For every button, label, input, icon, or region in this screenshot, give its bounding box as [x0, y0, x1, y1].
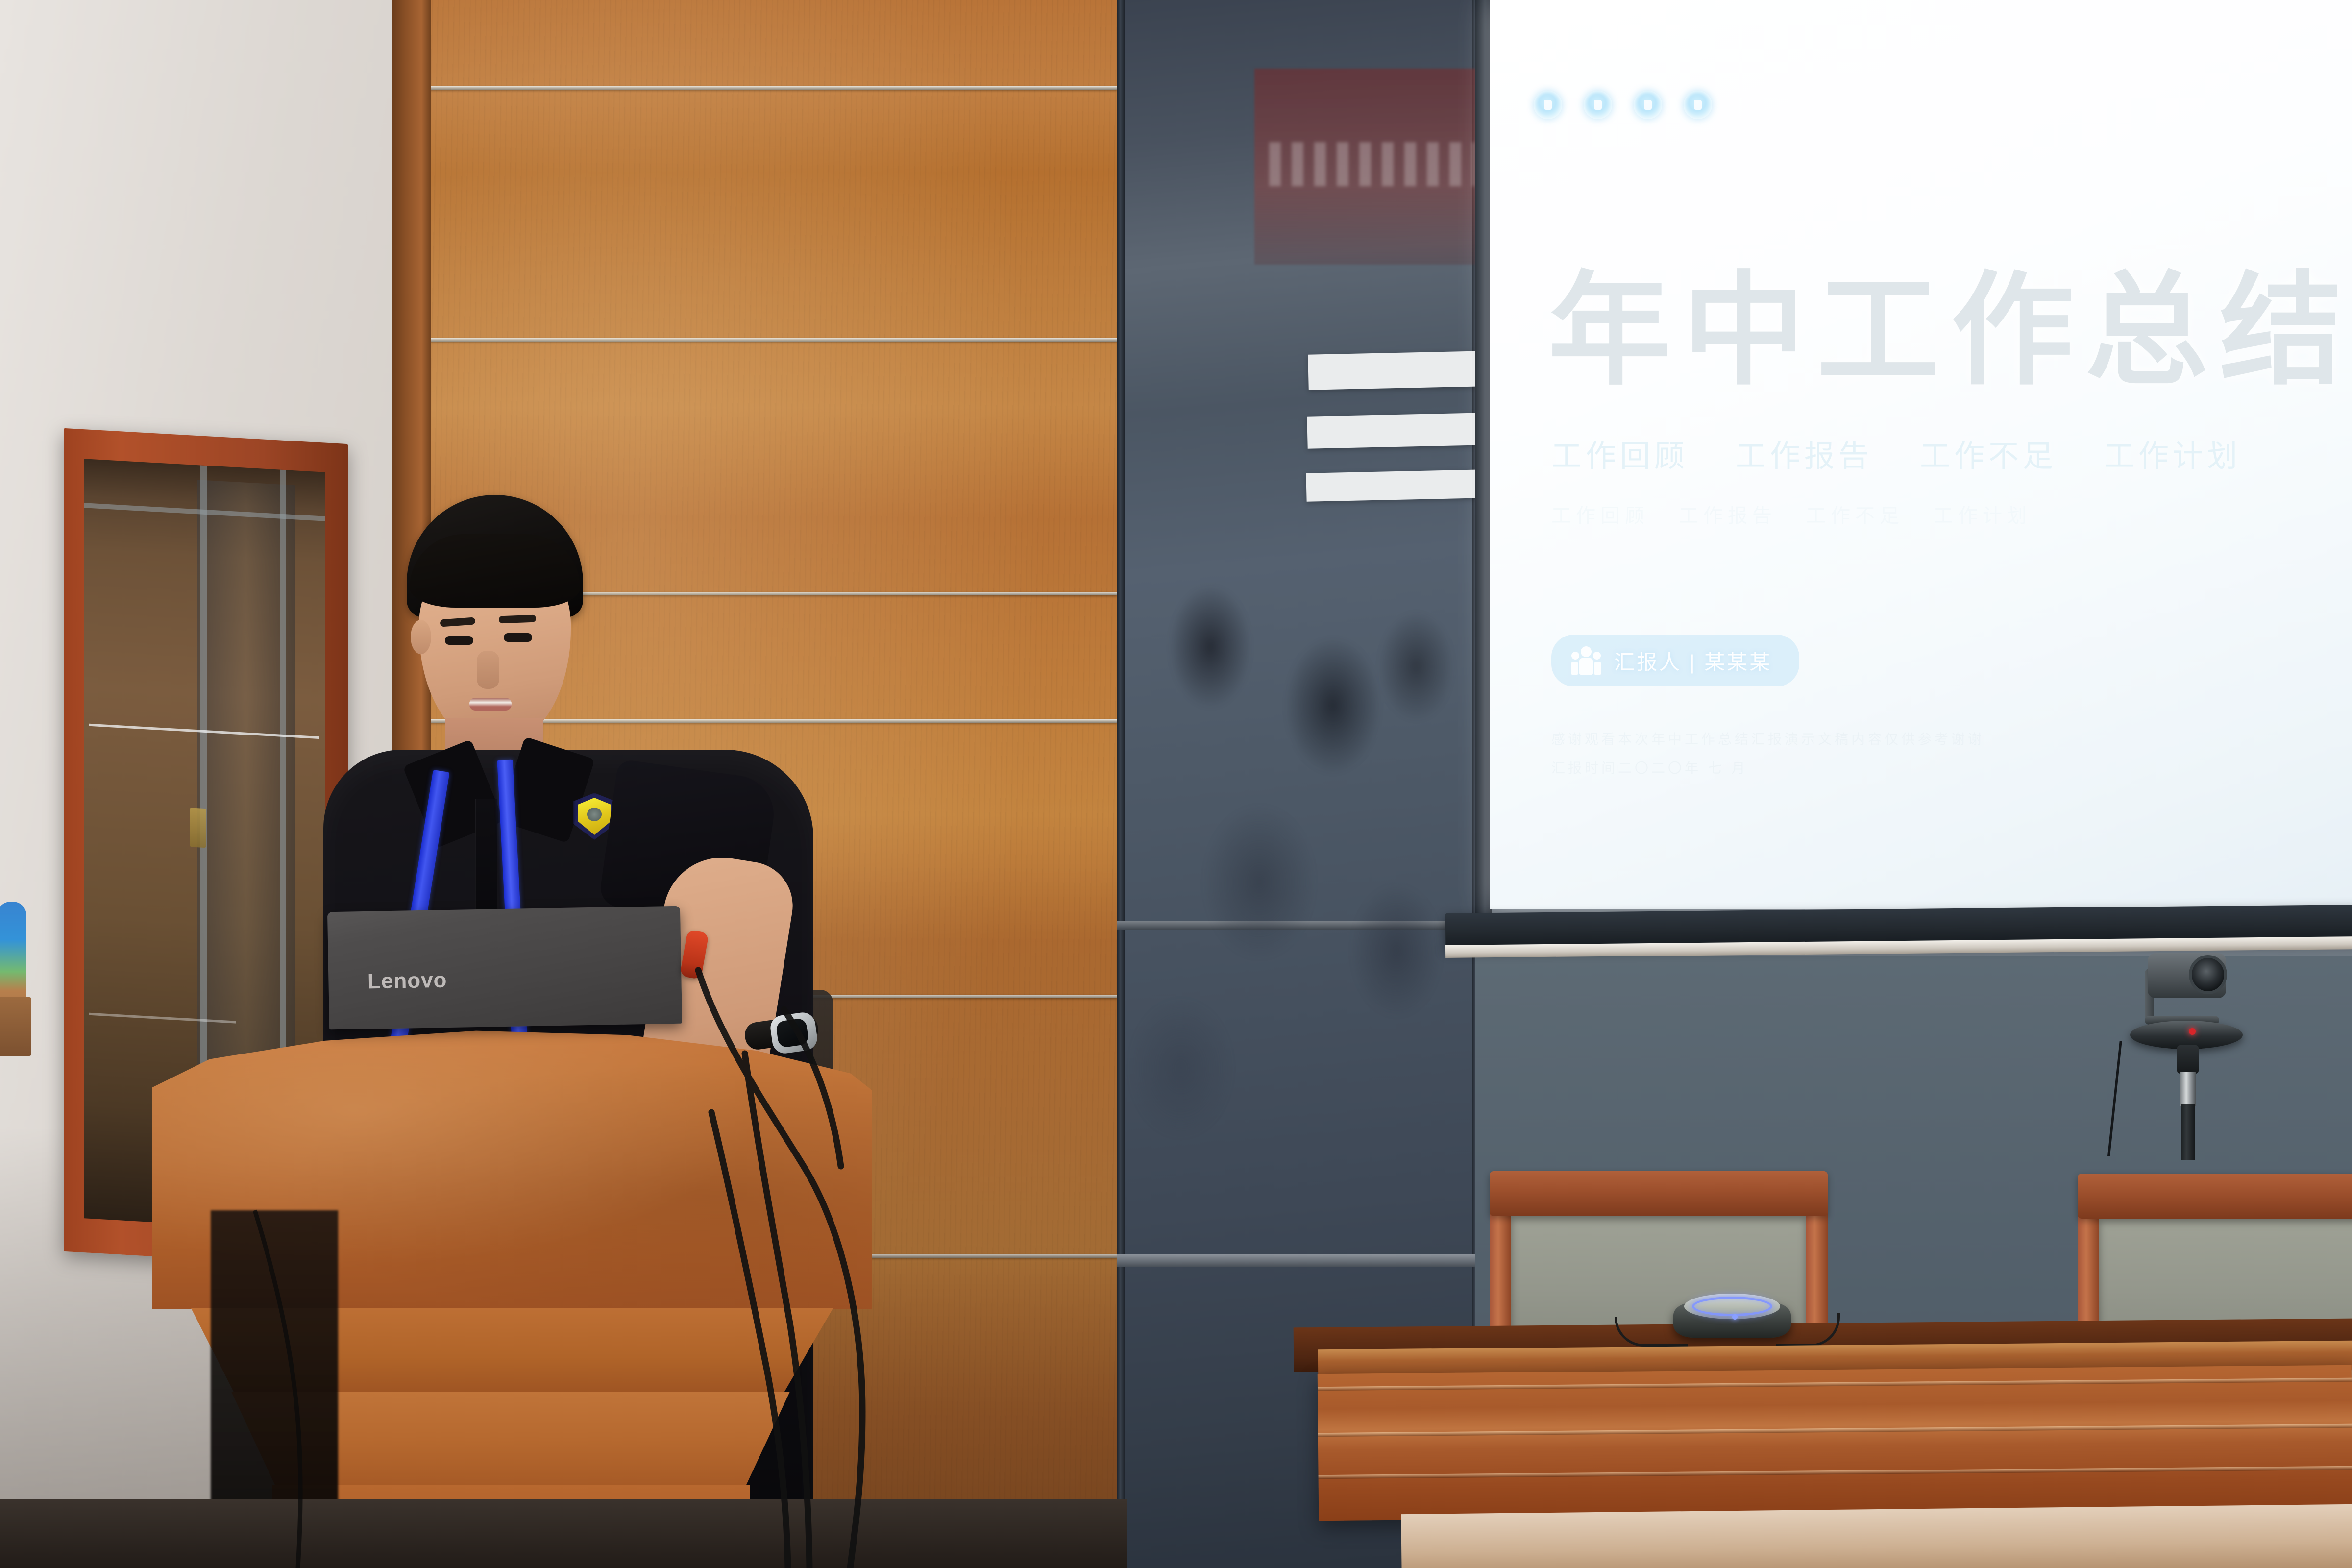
- slide-footer-line-1: 感谢观看本次年中工作总结汇报演示文稿内容仅供参考谢谢: [1551, 725, 2247, 754]
- decor-pot: [0, 997, 31, 1056]
- slide-faint-item-4: 工作计划: [1934, 500, 2032, 528]
- presenter-eye-right: [504, 633, 532, 642]
- presenter-badge-label: 汇报人 | 某某某: [1614, 646, 1772, 676]
- laptop[interactable]: Lenovo: [328, 909, 681, 1027]
- slide-subtitle-row: 工作回顾 工作报告 工作不足 工作计划: [1551, 431, 2316, 475]
- ptz-cable: [2107, 1041, 2188, 1163]
- decor-dot-2: [1584, 91, 1612, 119]
- decor-dot-3: [1634, 91, 1662, 119]
- laptop-lid: [327, 906, 682, 1030]
- slide-subtitle-item-2: 工作报告: [1736, 431, 1873, 475]
- tripod-pole: [2181, 1104, 2195, 1160]
- presenter-mouth: [469, 698, 512, 710]
- conference-table-base-ledge: [1401, 1504, 2352, 1568]
- slide-faint-row: 工作回顾 工作报告 工作不足 工作计划: [1551, 500, 2237, 528]
- recording-led-indicator: [2189, 1028, 2196, 1035]
- screen-left-edge: [1475, 0, 1492, 916]
- projection-screen: 年中工作总结 工作回顾 工作报告 工作不足 工作计划 工作回顾 工作报告 工作不…: [1490, 0, 2352, 909]
- slide-faint-item-2: 工作报告: [1679, 500, 1777, 528]
- conference-speakerphone[interactable]: [1673, 1289, 1791, 1340]
- slide-subtitle-item-4: 工作计划: [2104, 431, 2241, 475]
- slide-faint-item-3: 工作不足: [1806, 500, 1904, 528]
- blurred-audience-reflection: [1122, 578, 1475, 1411]
- presenter-ear: [411, 620, 431, 654]
- conference-table-front-panel: [1318, 1365, 2352, 1521]
- presenter-hair-front: [410, 534, 580, 608]
- decor-dot-4: [1684, 91, 1712, 119]
- partition-banner-reflection: [1254, 69, 1485, 265]
- slide-faint-item-1: 工作回顾: [1551, 500, 1649, 528]
- slide-title: 年中工作总结: [1548, 262, 2313, 399]
- presenter-nose: [477, 651, 499, 689]
- chair-top-rail: [2078, 1174, 2352, 1219]
- people-group-icon: [1571, 645, 1601, 676]
- slide-footer: 感谢观看本次年中工作总结汇报演示文稿内容仅供参考谢谢 汇报时间二〇二〇年 七 月: [1551, 725, 2247, 783]
- slide-subtitle-item-3: 工作不足: [1920, 431, 2057, 475]
- reflection-stripe-1: [1308, 351, 1485, 390]
- camera-lens-icon: [2189, 955, 2227, 994]
- chair-top-rail: [1490, 1171, 1828, 1216]
- slide-subtitle-item-1: 工作回顾: [1551, 431, 1689, 475]
- reflection-stripe-3: [1306, 469, 1485, 502]
- decor-dot-1: [1534, 91, 1562, 119]
- reflection-stripe-2: [1307, 413, 1485, 449]
- slide-footer-line-2: 汇报时间二〇二〇年 七 月: [1551, 754, 2247, 783]
- presenter-badge: 汇报人 | 某某某: [1551, 635, 1799, 686]
- speakerphone-led-ring: [1692, 1297, 1772, 1316]
- laptop-brand-label: Lenovo: [367, 968, 447, 994]
- floor-shadow: [0, 1499, 1127, 1568]
- ptz-camera[interactable]: [2134, 948, 2247, 1159]
- window-handle[interactable]: [190, 808, 206, 848]
- presenter-eyebrow-right: [499, 615, 536, 624]
- conference-room-scene: 年中工作总结 工作回顾 工作报告 工作不足 工作计划 工作回顾 工作报告 工作不…: [0, 0, 2352, 1568]
- slide-decor-dots: [1534, 91, 1712, 119]
- speakerphone-status-led: [1732, 1314, 1738, 1320]
- presenter-eye-left: [445, 636, 473, 645]
